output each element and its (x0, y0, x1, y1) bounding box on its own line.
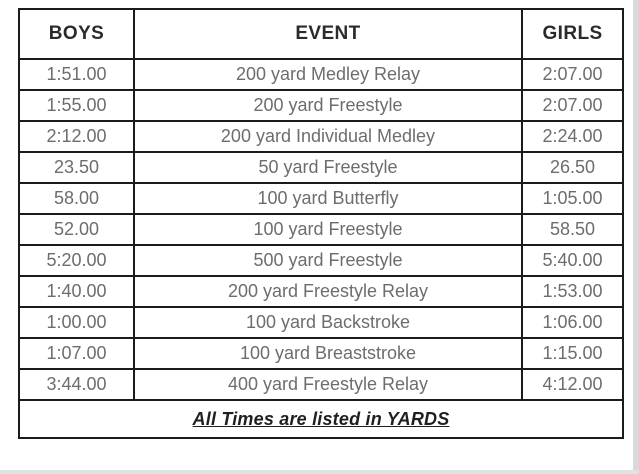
cell-boys: 2:12.00 (19, 121, 134, 152)
cell-boys: 1:00.00 (19, 307, 134, 338)
table-row: 1:55.00200 yard Freestyle2:07.00 (19, 90, 623, 121)
cell-girls: 2:07.00 (522, 90, 623, 121)
cell-boys: 3:44.00 (19, 369, 134, 400)
cell-event: 50 yard Freestyle (134, 152, 522, 183)
column-header-boys: BOYS (19, 9, 134, 59)
page-edge-right (633, 0, 639, 474)
table-row: 1:07.00100 yard Breaststroke1:15.00 (19, 338, 623, 369)
cell-event: 200 yard Freestyle (134, 90, 522, 121)
footer-row: All Times are listed in YARDS (19, 400, 623, 438)
cell-boys: 1:51.00 (19, 59, 134, 90)
cell-event: 200 yard Freestyle Relay (134, 276, 522, 307)
table-row: 1:51.00200 yard Medley Relay2:07.00 (19, 59, 623, 90)
footer-note: All Times are listed in YARDS (19, 400, 623, 438)
table-footer: All Times are listed in YARDS (19, 400, 623, 438)
cell-boys: 1:55.00 (19, 90, 134, 121)
cell-boys: 58.00 (19, 183, 134, 214)
table-header: BOYS EVENT GIRLS (19, 9, 623, 59)
cell-girls: 1:15.00 (522, 338, 623, 369)
header-row: BOYS EVENT GIRLS (19, 9, 623, 59)
table-row: 3:44.00400 yard Freestyle Relay4:12.00 (19, 369, 623, 400)
table-row: 5:20.00500 yard Freestyle5:40.00 (19, 245, 623, 276)
cell-girls: 4:12.00 (522, 369, 623, 400)
cell-girls: 1:05.00 (522, 183, 623, 214)
cell-boys: 52.00 (19, 214, 134, 245)
cell-event: 100 yard Backstroke (134, 307, 522, 338)
cell-event: 100 yard Freestyle (134, 214, 522, 245)
cell-boys: 23.50 (19, 152, 134, 183)
cell-girls: 1:53.00 (522, 276, 623, 307)
cell-event: 100 yard Butterfly (134, 183, 522, 214)
page-edge-bottom (0, 470, 639, 474)
table-row: 1:40.00200 yard Freestyle Relay1:53.00 (19, 276, 623, 307)
cell-girls: 26.50 (522, 152, 623, 183)
cell-girls: 2:24.00 (522, 121, 623, 152)
cell-boys: 5:20.00 (19, 245, 134, 276)
cell-event: 500 yard Freestyle (134, 245, 522, 276)
table-row: 1:00.00100 yard Backstroke1:06.00 (19, 307, 623, 338)
page-canvas: BOYS EVENT GIRLS 1:51.00200 yard Medley … (0, 0, 639, 474)
cell-girls: 2:07.00 (522, 59, 623, 90)
column-header-girls: GIRLS (522, 9, 623, 59)
table-row: 23.5050 yard Freestyle26.50 (19, 152, 623, 183)
cell-event: 100 yard Breaststroke (134, 338, 522, 369)
table-row: 2:12.00200 yard Individual Medley2:24.00 (19, 121, 623, 152)
cell-girls: 5:40.00 (522, 245, 623, 276)
cell-boys: 1:40.00 (19, 276, 134, 307)
cell-boys: 1:07.00 (19, 338, 134, 369)
swim-times-table: BOYS EVENT GIRLS 1:51.00200 yard Medley … (18, 8, 624, 439)
cell-girls: 1:06.00 (522, 307, 623, 338)
column-header-event: EVENT (134, 9, 522, 59)
cell-event: 400 yard Freestyle Relay (134, 369, 522, 400)
table-row: 52.00100 yard Freestyle58.50 (19, 214, 623, 245)
times-table-container: BOYS EVENT GIRLS 1:51.00200 yard Medley … (18, 8, 622, 439)
cell-girls: 58.50 (522, 214, 623, 245)
cell-event: 200 yard Medley Relay (134, 59, 522, 90)
table-row: 58.00100 yard Butterfly1:05.00 (19, 183, 623, 214)
table-body: 1:51.00200 yard Medley Relay2:07.001:55.… (19, 59, 623, 400)
cell-event: 200 yard Individual Medley (134, 121, 522, 152)
